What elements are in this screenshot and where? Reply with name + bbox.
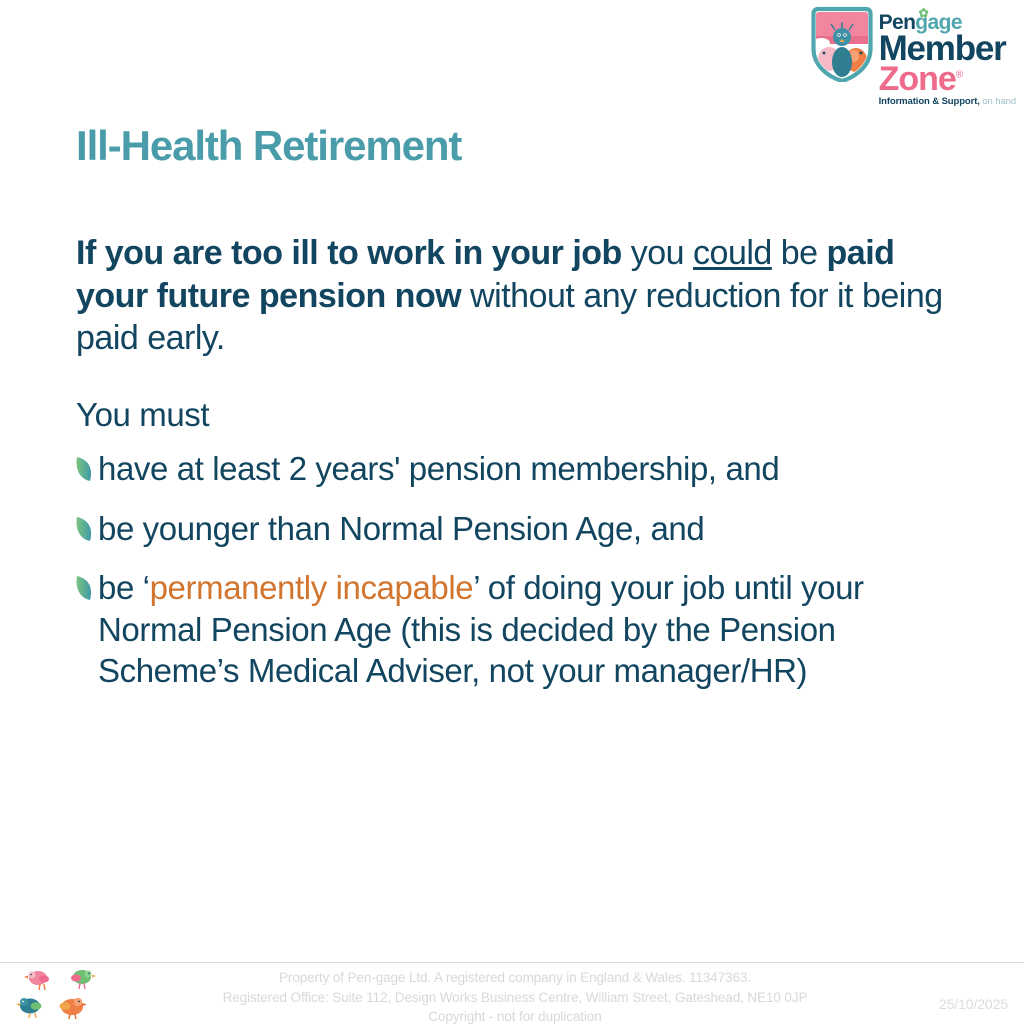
logo-tagline: Information & Support, on hand (879, 97, 1016, 107)
list-intro-label: You must (76, 396, 209, 434)
intro-paragraph: If you are too ill to work in your job y… (76, 232, 956, 360)
logo-pengage-word: Pengage ✿ (879, 12, 962, 33)
logo-zone-text: Zone (879, 60, 956, 98)
logo-tagline-light: on hand (982, 96, 1016, 107)
page-title: Ill-Health Retirement (76, 122, 461, 170)
leaf-bullet-icon (74, 514, 96, 544)
shield-with-bird-characters-icon (811, 6, 873, 82)
requirements-list: have at least 2 years' pension membershi… (74, 448, 959, 710)
list-item: have at least 2 years' pension membershi… (74, 448, 959, 490)
list-item-text: be younger than Normal Pension Age, and (98, 508, 704, 550)
logo-pen-text: Pen (879, 11, 916, 34)
member-zone-logo: Pengage ✿ Member Zone® Information & Sup… (811, 6, 1016, 107)
footer-legal-line-2: Registered Office: Suite 112, Design Wor… (150, 988, 880, 1008)
slide-canvas: Pengage ✿ Member Zone® Information & Sup… (0, 0, 1024, 1024)
leaf-bullet-icon (74, 573, 96, 603)
registered-mark: ® (956, 70, 962, 81)
list-item-text: be ‘permanently incapable’ of doing your… (98, 567, 959, 692)
footer-legal-text: Property of Pen-gage Ltd. A registered c… (150, 968, 880, 1027)
list-item-text: have at least 2 years' pension membershi… (98, 448, 779, 490)
list-item: be younger than Normal Pension Age, and (74, 508, 959, 550)
bird-characters-decoration-icon (10, 966, 116, 1020)
leaf-bullet-icon (74, 454, 96, 484)
list-item: be ‘permanently incapable’ of doing your… (74, 567, 959, 692)
sprout-leaf-icon: ✿ (919, 7, 928, 19)
logo-zone-word: Zone® (879, 62, 963, 96)
footer-legal-line-1: Property of Pen-gage Ltd. A registered c… (150, 968, 880, 988)
logo-wordmark: Pengage ✿ Member Zone® Information & Sup… (879, 6, 1016, 107)
footer-divider (0, 962, 1024, 963)
footer-date: 25/10/2025 (939, 996, 1008, 1012)
